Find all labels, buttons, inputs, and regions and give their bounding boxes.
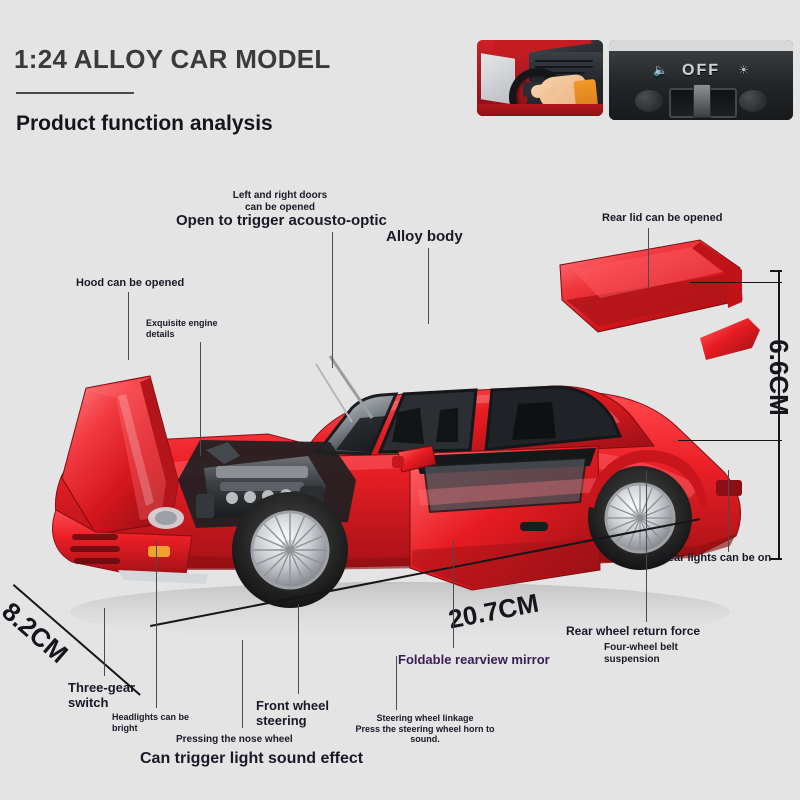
- annotation-suspension-line1: Four-wheel belt: [604, 642, 678, 654]
- dimension-cap-top: [770, 270, 782, 272]
- thumbnail-steering-wheel-horn-demo[interactable]: [477, 40, 603, 116]
- switch-lever[interactable]: [693, 84, 711, 118]
- leader-line-rear-wheel: [646, 470, 647, 622]
- title-underline: [16, 92, 134, 94]
- leader-line-rear-lid: [648, 228, 649, 288]
- leader-line-rear-lights: [728, 470, 729, 552]
- annotation-horn-line2: sound.: [340, 734, 510, 745]
- leader-line-alloy-body: [428, 248, 429, 324]
- annotation-front-wheel-line2: steering: [256, 713, 329, 728]
- leader-line-steering-linkage: [396, 656, 397, 710]
- annotation-doors-line1: Left and right doors: [224, 190, 336, 202]
- leader-line-mirror: [453, 540, 454, 648]
- annotation-headlights-line1: Headlights can be: [112, 712, 189, 723]
- annotation-three-gear-switch: Three-gear switch: [68, 680, 135, 711]
- leader-line-engine: [200, 342, 201, 456]
- dimension-leader-top: [690, 282, 782, 283]
- annotation-three-gear-line1: Three-gear: [68, 680, 135, 695]
- annotation-headlights-line2: bright: [112, 723, 189, 734]
- leader-line-nose-wheel: [242, 640, 243, 728]
- dimension-label-height: 6.6CM: [763, 339, 794, 416]
- leader-line-front-wheel: [298, 604, 299, 694]
- annotation-front-wheel-steering: Front wheel steering: [256, 698, 329, 729]
- leader-line-hood: [128, 292, 129, 360]
- annotation-hood: Hood can be opened: [76, 277, 184, 290]
- page-subtitle: Product function analysis: [16, 112, 273, 136]
- annotation-rear-wheel-force: Rear wheel return force: [566, 624, 700, 638]
- annotation-suspension: Four-wheel belt suspension: [604, 642, 678, 666]
- car-floor-red: [477, 104, 603, 116]
- annotation-steering-linkage-title: Steering wheel linkage: [340, 713, 510, 724]
- light-icon: ☀: [738, 63, 749, 77]
- dimension-cap-bottom: [770, 558, 782, 560]
- infographic-canvas: 1:24 ALLOY CAR MODEL Product function an…: [0, 0, 800, 800]
- dimension-leader-rear: [678, 440, 782, 441]
- annotation-rear-lid: Rear lid can be opened: [602, 212, 722, 225]
- switch-off-label: OFF: [609, 62, 793, 80]
- page-title: 1:24 ALLOY CAR MODEL: [14, 44, 331, 75]
- annotation-suspension-line2: suspension: [604, 654, 678, 666]
- annotation-nose-wheel: Pressing the nose wheel: [176, 734, 293, 746]
- annotation-rearview-mirror: Foldable rearview mirror: [398, 652, 550, 667]
- annotation-rear-lights: Rear lights can be on: [660, 552, 771, 565]
- annotation-engine-details: Exquisite engine details: [146, 318, 218, 339]
- annotation-engine-line1: Exquisite engine: [146, 318, 218, 329]
- leader-line-three-gear: [104, 608, 105, 676]
- annotation-horn-line1: Press the steering wheel horn to: [340, 724, 510, 735]
- dash-vent-icon: [535, 60, 593, 62]
- annotation-doors: Left and right doors can be opened: [224, 190, 336, 214]
- annotation-alloy-body: Alloy body: [386, 228, 463, 246]
- switch-rivet-right: [739, 90, 767, 112]
- annotation-front-wheel-line1: Front wheel: [256, 698, 329, 713]
- thumbnail-three-gear-switch[interactable]: 🔈 OFF ☀: [609, 40, 793, 120]
- annotation-light-sound-effect: Can trigger light sound effect: [140, 750, 363, 769]
- leader-line-acousto-optic: [332, 232, 333, 368]
- annotation-acousto-optic: Open to trigger acousto-optic: [176, 212, 387, 230]
- annotation-engine-line2: details: [146, 329, 218, 340]
- annotation-steering-linkage: Steering wheel linkage Press the steerin…: [340, 713, 510, 745]
- annotation-headlights: Headlights can be bright: [112, 712, 189, 733]
- annotation-three-gear-line2: switch: [68, 695, 135, 710]
- leader-line-headlights: [156, 540, 157, 708]
- switch-rivet-left: [635, 90, 663, 112]
